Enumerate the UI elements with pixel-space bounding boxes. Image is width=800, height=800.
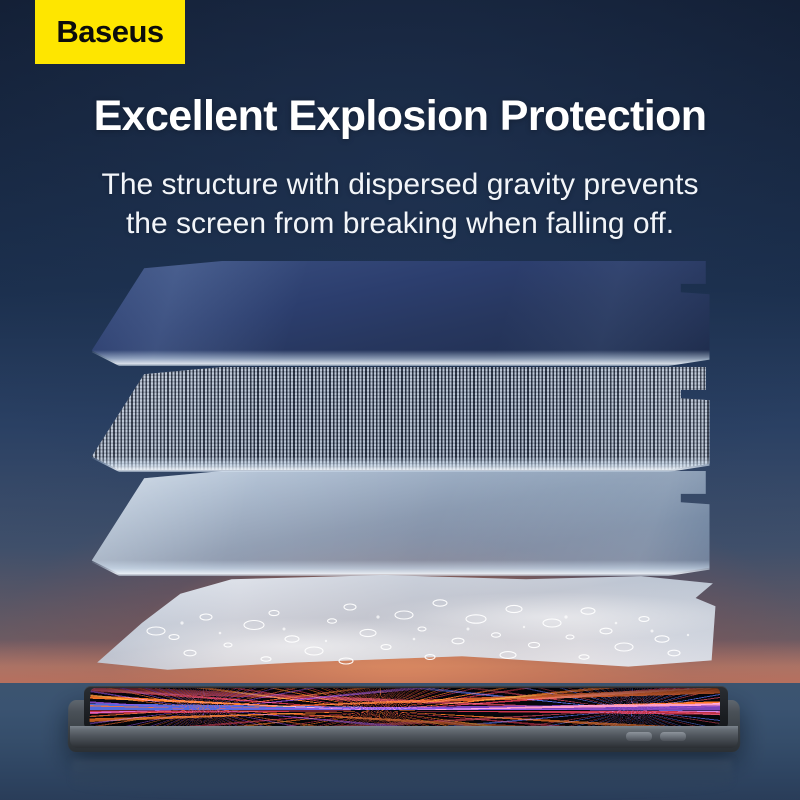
mesh-grid-sheen (88, 367, 712, 471)
baseus-logo-text: Baseus (56, 14, 163, 50)
clear-glass-sheet (88, 471, 712, 575)
mesh-grid-sheet (88, 367, 712, 471)
subtitle-line-1: The structure with dispersed gravity pre… (0, 165, 800, 204)
adhesive-film-layer (0, 573, 800, 701)
adhesive-film-body (78, 573, 718, 677)
clear-glass-sheen (88, 471, 712, 575)
subtitle-line-2: the screen from breaking when falling of… (0, 204, 800, 243)
blue-glass-sheen (88, 261, 712, 365)
poster-root: Baseus Excellent Explosion Protection Th… (0, 0, 800, 800)
blue-glass-sheet (88, 261, 712, 365)
adhesive-film (78, 573, 718, 677)
volume-down-button (660, 732, 686, 741)
baseus-logo: Baseus (35, 0, 185, 64)
page-subtitle: The structure with dispersed gravity pre… (0, 165, 800, 243)
tablet-device (68, 686, 740, 766)
exploded-layer-stack (0, 255, 800, 685)
tablet-screen (90, 688, 721, 726)
tablet-reflection (72, 760, 732, 798)
volume-up-button (626, 732, 652, 741)
page-title: Excellent Explosion Protection (0, 95, 800, 138)
screen-scrim (90, 688, 721, 726)
